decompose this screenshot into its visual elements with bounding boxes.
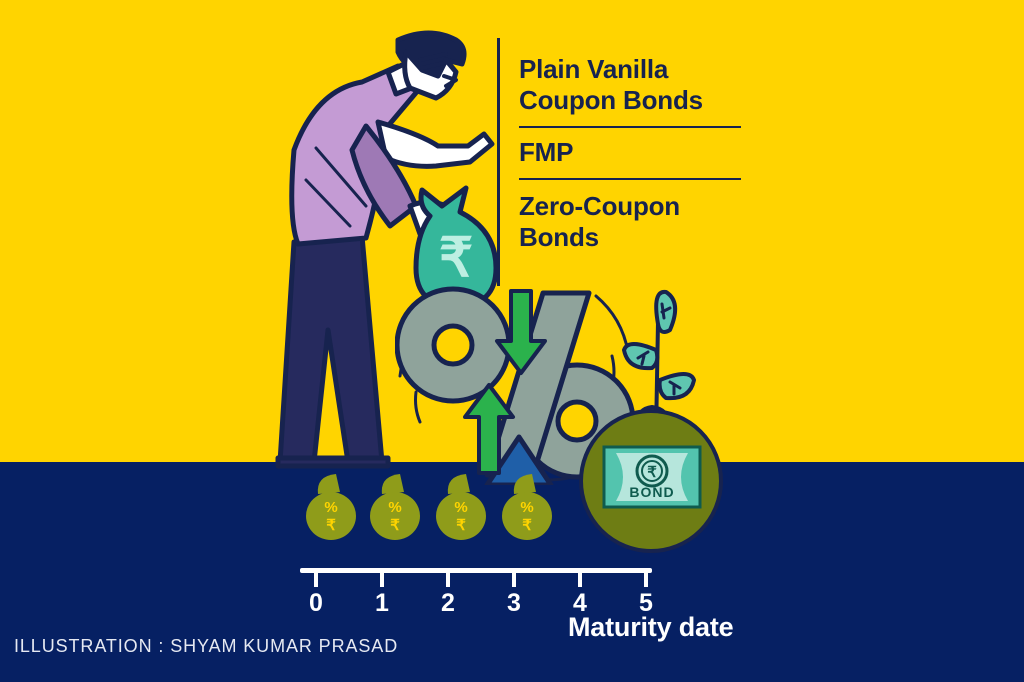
coupon-percent-2: % [454, 500, 467, 515]
axis-label-3: 3 [503, 589, 525, 618]
illustration-credit: ILLUSTRATION : SHYAM KUMAR PRASAD [14, 636, 398, 657]
list-item-fmp: FMP [519, 137, 744, 174]
axis-label-2: 2 [437, 589, 459, 618]
coupon-bag-1: % ₹ [370, 480, 420, 540]
axis-tick-3 [512, 573, 516, 587]
svg-text:₹: ₹ [647, 464, 657, 481]
bond-type-list: Plain Vanilla Coupon Bonds FMP Zero-Coup… [497, 38, 737, 286]
list-item-plain-vanilla-coupon-bonds: Plain Vanilla Coupon Bonds [519, 38, 744, 122]
coupon-rupee-1: ₹ [390, 518, 400, 533]
axis-tick-5 [644, 573, 648, 587]
coupon-percent-0: % [324, 500, 337, 515]
axis-tick-4 [578, 573, 582, 587]
axis-line [300, 568, 652, 573]
list-item-zero-coupon-bonds: Zero-Coupon Bonds [519, 189, 744, 259]
timeline-axis: 0 1 2 3 4 5 [300, 568, 652, 570]
axis-tick-1 [380, 573, 384, 587]
coupon-percent-1: % [388, 500, 401, 515]
axis-tick-0 [314, 573, 318, 587]
list-vertical-rule [497, 38, 500, 286]
maturity-date-label: Maturity date [568, 612, 733, 643]
coupon-rupee-0: ₹ [326, 518, 336, 533]
illustration-canvas: ₹ [0, 0, 1024, 682]
coupon-rupee-2: ₹ [456, 518, 466, 533]
axis-tick-2 [446, 573, 450, 587]
maturity-timeline: % ₹ % ₹ % ₹ [300, 480, 680, 600]
axis-label-0: 0 [305, 589, 327, 618]
coupon-percent-3: % [520, 500, 533, 515]
list-separator-1 [519, 126, 741, 128]
axis-label-1: 1 [371, 589, 393, 618]
coupon-bag-3: % ₹ [502, 480, 552, 540]
svg-text:₹: ₹ [439, 228, 473, 288]
coupon-bag-2: % ₹ [436, 480, 486, 540]
coupon-rupee-3: ₹ [522, 518, 532, 533]
list-separator-2 [519, 178, 741, 180]
coupon-bag-0: % ₹ [306, 480, 356, 540]
